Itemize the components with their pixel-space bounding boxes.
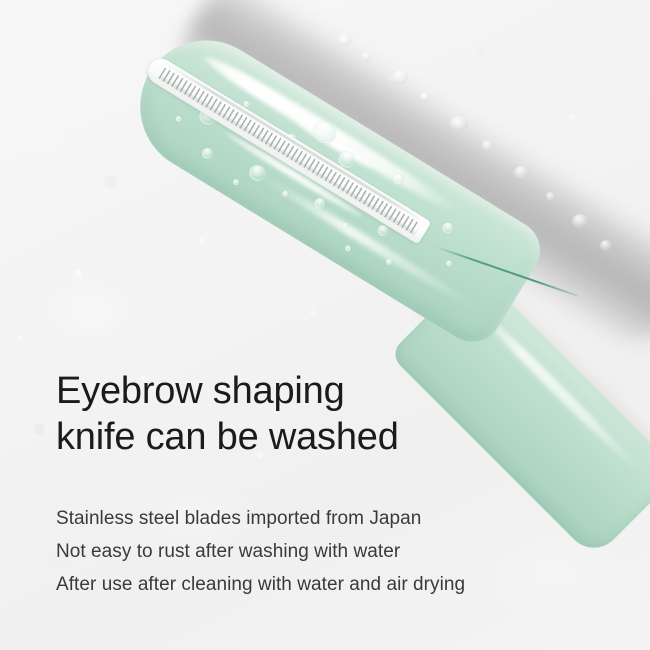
feature-item: After use after cleaning with water and … — [56, 568, 616, 601]
headline: Eyebrow shaping knife can be washed — [56, 368, 616, 460]
feature-item: Not easy to rust after washing with wate… — [56, 535, 616, 568]
feature-list: Stainless steel blades imported from Jap… — [56, 502, 616, 601]
marketing-copy: Eyebrow shaping knife can be washed Stai… — [56, 368, 616, 601]
product-banner: Eyebrow shaping knife can be washed Stai… — [0, 0, 650, 650]
feature-item: Stainless steel blades imported from Jap… — [56, 502, 616, 535]
